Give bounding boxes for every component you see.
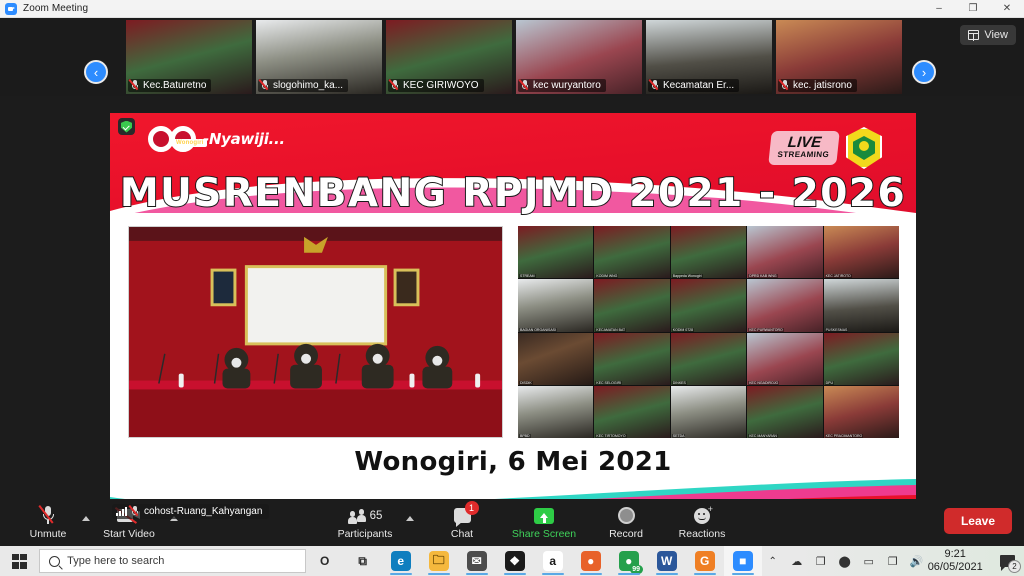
maximize-button[interactable]: ❐ (956, 0, 990, 18)
start-video-label: Start Video (103, 528, 155, 540)
participant-name: Kecamatan Er... (663, 80, 734, 91)
gallery-cell: PUSKESMAS (824, 279, 899, 331)
dropbox-icon-glyph: ❖ (505, 551, 525, 571)
gallery-cell-name: DPU (825, 381, 834, 385)
gallery-cell: KEC SELOGIRI (594, 333, 669, 385)
host-name-label: cohost-Ruang_Kahyangan (144, 506, 262, 517)
mic-off-icon (131, 80, 140, 91)
gallery-cell-name: BAGIAN ORGANISASI (519, 328, 557, 332)
microsoft-word-icon-glyph: W (657, 551, 677, 571)
firefox-icon-glyph: ● (581, 551, 601, 571)
mail-icon-glyph: ✉ (467, 551, 487, 571)
battery-icon[interactable]: ▭ (858, 546, 880, 576)
gallery-cell-name: KEC TIRTOMOYO (595, 434, 626, 438)
close-button[interactable]: ✕ (990, 0, 1024, 18)
participant-name: kec. jatisrono (793, 80, 852, 91)
participant-name-tag: kec. jatisrono (778, 79, 857, 92)
gallery-cell: KEC PRACIMANTORO (824, 386, 899, 438)
gallery-cell-name: KEC JATIROTO (825, 274, 852, 278)
main-stage-photo (128, 226, 503, 438)
zoom-icon-glyph: ■ (733, 551, 753, 571)
microsoft-word-icon[interactable]: W (648, 546, 686, 576)
search-input[interactable]: Type here to search (39, 549, 306, 573)
record-button[interactable]: Record (590, 500, 662, 545)
gallery-cell-name: SETDA (672, 434, 686, 438)
whatsapp-icon[interactable]: ●99 (610, 546, 648, 576)
volume-icon[interactable]: 🔊 (906, 546, 928, 576)
gallery-cell: KEC JATIROTO (824, 226, 899, 278)
participant-name-tag: slogohimo_ka... (258, 79, 348, 92)
mic-off-icon (781, 80, 790, 91)
filmstrip-tile[interactable]: Kec.Baturetno (126, 20, 252, 94)
microphone-tray-icon[interactable]: ⬤ (834, 546, 856, 576)
task-view-icon[interactable]: ⧉ (344, 546, 382, 576)
gallery-cell-name: KEC PURWANTORO (748, 328, 784, 332)
gallery-cell: KEC MANYARAN (747, 386, 822, 438)
filmstrip-next-arrow[interactable]: › (912, 60, 936, 84)
participant-filmstrip: Kec.Baturetnoslogohimo_ka...KEC GIRIWOYO… (0, 18, 1024, 96)
taskbar-clock[interactable]: 9:21 06/05/2021 (928, 548, 991, 573)
window-titlebar: Zoom Meeting – ❐ ✕ (0, 0, 1024, 18)
shared-screen-area: -Nyawiji... Wonogiri LIVE STREAMING MUSR… (0, 96, 1024, 518)
filmstrip-track: Kec.Baturetnoslogohimo_ka...KEC GIRIWOYO… (126, 20, 902, 94)
unmute-label: Unmute (30, 528, 67, 540)
gallery-cell-name: DPRD KAB WNG (748, 274, 777, 278)
filmstrip-tile[interactable]: slogohimo_ka... (256, 20, 382, 94)
view-button-label: View (984, 29, 1008, 41)
participants-label: Participants (338, 528, 393, 540)
shared-host-label: cohost-Ruang_Kahyangan (112, 504, 269, 519)
slide-footer-text: Wonogiri, 6 Mei 2021 (110, 447, 916, 477)
mail-icon[interactable]: ✉ (458, 546, 496, 576)
filmstrip-tile[interactable]: kec wuryantoro (516, 20, 642, 94)
mic-off-icon (521, 80, 530, 91)
chevron-up-icon[interactable]: ⌃ (762, 546, 784, 576)
taskbar-icons: O⧉e🗀✉❖a●●99WG■ (306, 546, 762, 576)
gallery-cell-name: BPBD (519, 434, 531, 438)
gallery-cell-name: DISDIK (519, 381, 533, 385)
gallery-cell: Bappeda Wonogiri (671, 226, 746, 278)
chat-label: Chat (451, 528, 473, 540)
mic-off-icon (391, 80, 400, 91)
shield-check-icon[interactable] (118, 118, 135, 135)
gallery-cell-name: KECAMATAN BAT (595, 328, 626, 332)
gallery-cell-name: STREAM (519, 274, 536, 278)
shared-slide[interactable]: -Nyawiji... Wonogiri LIVE STREAMING MUSR… (110, 113, 916, 521)
amazon-icon-glyph: a (543, 551, 563, 571)
nyawiji-logo: -Nyawiji... (148, 126, 285, 152)
gallery-cell-name: KEC MANYARAN (748, 434, 778, 438)
reactions-label: Reactions (679, 528, 726, 540)
leave-button[interactable]: Leave (944, 508, 1012, 534)
notification-count: 2 (1008, 560, 1021, 573)
zoom-meeting-window: Kec.Baturetnoslogohimo_ka...KEC GIRIWOYO… (0, 18, 1024, 546)
wonogiri-crest-icon (846, 127, 882, 169)
unmute-button[interactable]: Unmute (16, 500, 80, 545)
windows-taskbar: Type here to search O⧉e🗀✉❖a●●99WG■ ⌃☁❐⬤▭… (0, 546, 1024, 576)
gallery-cell: KODIM 0728 (671, 279, 746, 331)
participant-name: Kec.Baturetno (143, 80, 206, 91)
microsoft-edge-icon-glyph: e (391, 551, 411, 571)
whatsapp-icon-glyph: ●99 (619, 551, 639, 571)
screen-share-icon[interactable]: ❐ (810, 546, 832, 576)
gallery-cell: KEC PURWANTORO (747, 279, 822, 331)
filmstrip-prev-arrow[interactable]: ‹ (84, 60, 108, 84)
gallery-cell: DPRD KAB WNG (747, 226, 822, 278)
mic-off-icon (261, 80, 270, 91)
audio-options-caret-icon[interactable] (82, 516, 90, 521)
gallery-cell: BAGIAN ORGANISASI (518, 279, 593, 331)
screen-root: Zoom Meeting – ❐ ✕ Kec.Baturetnoslogohim… (0, 0, 1024, 576)
slide-title: MUSRENBANG RPJMD 2021 - 2026 (110, 171, 916, 216)
participant-name: KEC GIRIWOYO (403, 80, 479, 91)
grid-view-icon (968, 30, 979, 40)
participant-name: kec wuryantoro (533, 80, 601, 91)
pdf-editor-icon-glyph: G (695, 551, 715, 571)
action-center-icon[interactable]: 2 (991, 546, 1024, 576)
windows-start-icon[interactable] (0, 546, 39, 576)
mic-off-icon (42, 506, 55, 525)
search-icon (49, 556, 60, 567)
gallery-cell: KEC NGADIROJO (747, 333, 822, 385)
clock-time: 9:21 (928, 548, 983, 561)
participants-caret-icon[interactable] (406, 516, 414, 521)
zoom-icon[interactable]: ■ (724, 546, 762, 576)
filmstrip-tile[interactable]: Kecamatan Er... (646, 20, 772, 94)
minimize-button[interactable]: – (922, 0, 956, 18)
share-screen-label: Share Screen (512, 528, 576, 540)
amazon-icon[interactable]: a (534, 546, 572, 576)
reactions-button[interactable]: + Reactions (662, 500, 742, 545)
signal-strength-icon (116, 507, 127, 516)
live-badge-line2: STREAMING (777, 150, 830, 160)
onedrive-icon[interactable]: ☁ (786, 546, 808, 576)
gallery-cell-name: PUSKESMAS (825, 328, 849, 332)
cortana-icon-glyph: O (317, 553, 333, 569)
gallery-cell: STREAM (518, 226, 593, 278)
file-explorer-icon[interactable]: 🗀 (420, 546, 458, 576)
participant-name-tag: Kecamatan Er... (648, 79, 739, 92)
participants-count: 65 (370, 510, 383, 522)
participant-name-tag: Kec.Baturetno (128, 79, 211, 92)
gallery-cell-name: KODIM WNG (595, 274, 618, 278)
gallery-cell: DISDIK (518, 333, 593, 385)
filmstrip-tile[interactable]: kec. jatisrono (776, 20, 902, 94)
gallery-cell-name: KEC SELOGIRI (595, 381, 622, 385)
gallery-cell-name: DINKES (672, 381, 687, 385)
cortana-icon[interactable]: O (306, 546, 344, 576)
gallery-cell: SETDA (671, 386, 746, 438)
gallery-cell: DINKES (671, 333, 746, 385)
share-screen-button[interactable]: Share Screen (498, 500, 590, 545)
share-screen-icon (534, 508, 554, 524)
search-placeholder: Type here to search (67, 555, 164, 567)
live-streaming-badge: LIVE STREAMING (768, 131, 840, 165)
chat-unread-badge: 1 (465, 501, 479, 515)
nyawiji-logo-text: -Nyawiji... (203, 130, 285, 148)
view-button[interactable]: View (960, 25, 1016, 45)
filmstrip-tile[interactable]: KEC GIRIWOYO (386, 20, 512, 94)
gallery-cell-name: Bappeda Wonogiri (672, 274, 703, 278)
network-icon[interactable]: ❐ (882, 546, 904, 576)
pdf-editor-icon[interactable]: G (686, 546, 724, 576)
file-explorer-icon-glyph: 🗀 (429, 551, 449, 571)
chat-button[interactable]: 1 Chat (426, 500, 498, 545)
participant-gallery-grid: STREAMKODIM WNGBappeda WonogiriDPRD KAB … (518, 226, 899, 438)
meeting-controls-group: 65 Participants 1 Chat Share Screen (326, 500, 742, 545)
mic-off-icon (651, 80, 660, 91)
gallery-cell: DPU (824, 333, 899, 385)
nyawiji-sub-logo: Wonogiri (172, 139, 207, 147)
gallery-cell: BPBD (518, 386, 593, 438)
participants-icon (348, 509, 366, 522)
window-controls: – ❐ ✕ (922, 0, 1024, 18)
gallery-cell: KECAMATAN BAT (594, 279, 669, 331)
mic-off-icon (131, 506, 140, 517)
microsoft-edge-icon[interactable]: e (382, 546, 420, 576)
record-icon (618, 507, 635, 524)
system-tray: ⌃☁❐⬤▭❐🔊 (762, 546, 928, 576)
gallery-cell-name: KEC PRACIMANTORO (825, 434, 864, 438)
participants-button[interactable]: 65 Participants (326, 500, 404, 545)
participant-name-tag: kec wuryantoro (518, 79, 606, 92)
dropbox-icon[interactable]: ❖ (496, 546, 534, 576)
participant-name-tag: KEC GIRIWOYO (388, 79, 484, 92)
reactions-icon: + (694, 508, 710, 524)
task-view-icon-glyph: ⧉ (355, 553, 371, 569)
record-label: Record (609, 528, 643, 540)
zoom-camera-icon (5, 3, 17, 15)
clock-date: 06/05/2021 (928, 561, 983, 574)
firefox-icon[interactable]: ● (572, 546, 610, 576)
window-title: Zoom Meeting (23, 3, 88, 14)
gallery-cell-name: KEC NGADIROJO (748, 381, 779, 385)
gallery-cell-name: KODIM 0728 (672, 328, 694, 332)
gallery-cell: KODIM WNG (594, 226, 669, 278)
participant-name: slogohimo_ka... (273, 80, 343, 91)
live-badge-line1: LIVE (787, 135, 822, 150)
gallery-cell: KEC TIRTOMOYO (594, 386, 669, 438)
